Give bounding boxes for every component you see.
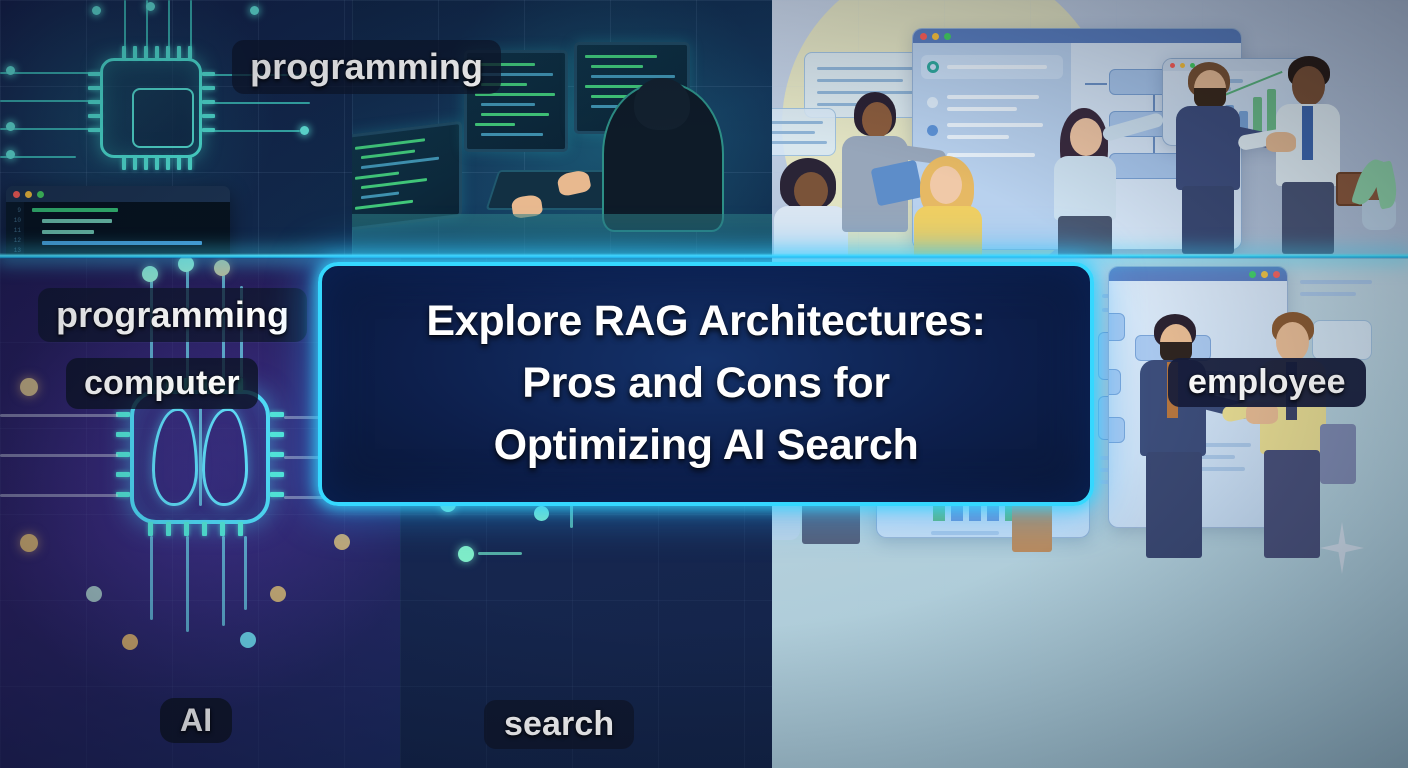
circuit-node [534,506,549,521]
circuit-node [20,534,38,552]
close-dot-icon[interactable] [13,191,20,198]
banner-image: 91011121314151617181920212223242526 [0,0,1408,768]
businessman-right-tie [1302,106,1313,160]
plant-pot [772,506,800,540]
minimize-dot-icon[interactable] [1261,271,1268,278]
person-seated-body [774,206,848,256]
man-shirt-legs [1264,450,1320,558]
person-pointing-skirt [1058,216,1112,256]
maximize-dot-icon[interactable] [944,33,951,40]
label-chip-employee: employee [1168,358,1366,407]
title-line-1: Explore RAG Architectures: [426,291,985,353]
title-card: Explore RAG Architectures: Pros and Cons… [318,262,1094,506]
person-pointing-head [1070,118,1102,156]
circuit-node [240,632,256,648]
title-line-3: Optimizing AI Search [426,415,985,477]
code-editor-window: 91011121314151617181920212223242526 [6,186,230,256]
person-blonde-head [930,166,962,204]
line-number-gutter: 91011121314151617181920212223242526 [6,202,24,256]
flow-card [1108,417,1125,443]
cyan-divider-line [0,253,1408,259]
editor-body: 91011121314151617181920212223242526 [6,202,230,256]
scene-team-presentation [772,0,1408,256]
businessman-left-legs [1182,186,1234,254]
person-presenter-head [862,102,892,138]
sparkle-icon [1320,522,1364,574]
circuit-node [334,534,350,550]
browser-titlebar [1109,267,1287,281]
circuit-node [458,546,474,562]
desk-surface [352,214,772,256]
circuit-node [270,586,286,602]
brain-midline [199,408,202,506]
businessman-right-legs [1282,182,1334,254]
person-pointing-body [1054,156,1116,220]
speech-bubble-lower [772,108,836,156]
title-line-2: Pros and Cons for [426,353,985,415]
minimize-dot-icon[interactable] [932,33,939,40]
minimize-dot-icon[interactable] [25,191,32,198]
circuit-node [214,260,230,276]
developer-hood-head [634,78,690,130]
circuit-node [20,378,38,396]
businessman-right-head [1292,66,1325,106]
screen-titlebar [913,29,1241,43]
label-chip-computer: computer [66,358,258,409]
flow-card [1108,313,1125,341]
flow-card [1108,369,1121,395]
maximize-dot-icon[interactable] [37,191,44,198]
person-seated-head [794,172,828,210]
label-chip-ai: AI [160,698,232,743]
page-title: Explore RAG Architectures: Pros and Cons… [408,291,1003,477]
circuit-node [86,586,102,602]
maximize-dot-icon[interactable] [1249,271,1256,278]
label-chip-search: search [484,700,634,749]
window-titlebar [6,186,230,202]
speech-bubble [1312,320,1372,360]
circuit-node [122,634,138,650]
handshake-hands [1266,132,1296,152]
label-chip-programming-top: programming [232,40,501,94]
man-shirt-head [1276,322,1309,362]
close-dot-icon[interactable] [920,33,927,40]
cpu-chip-core [132,88,194,148]
person-blonde-body [914,206,982,256]
label-chip-programming-left: programming [38,288,307,342]
circuit-node [142,266,158,282]
scene-developer-workstation [352,0,772,256]
close-dot-icon[interactable] [1273,271,1280,278]
businessman-left-suit [1176,106,1240,190]
scene-circuit-board: 91011121314151617181920212223242526 [0,0,352,256]
folder-icon [1320,424,1356,484]
man-suit-legs [1146,452,1202,558]
